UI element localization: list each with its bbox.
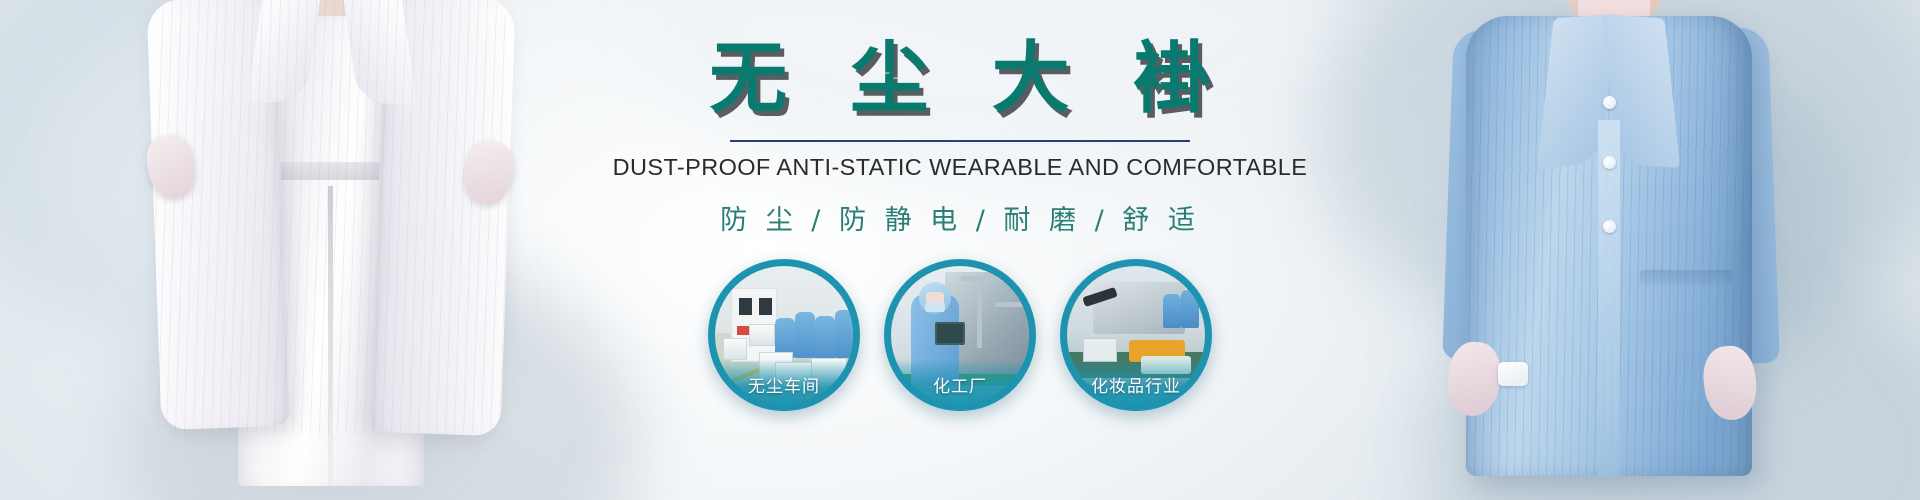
badge-cleanroom-workshop[interactable]: 无尘车间	[708, 259, 860, 411]
badge-cosmetics-industry[interactable]: 化妆品行业	[1060, 259, 1212, 411]
feature-tagline: 防 尘 / 防 静 电 / 耐 磨 / 舒 适	[720, 198, 1200, 237]
industry-badge-group: 无尘车间	[708, 259, 1212, 411]
badge-label: 无尘车间	[708, 372, 860, 397]
page-title: 无 尘 大 褂	[691, 40, 1228, 118]
promo-banner: 无 尘 大 褂 DUST-PROOF ANTI-STATIC WEARABLE …	[0, 0, 1920, 500]
banner-center-content: 无 尘 大 褂 DUST-PROOF ANTI-STATIC WEARABLE …	[480, 0, 1440, 500]
badge-label: 化妆品行业	[1060, 372, 1212, 397]
badge-label: 化工厂	[884, 372, 1036, 397]
blue-lab-coat-model	[1370, 0, 1840, 500]
badge-chemical-plant[interactable]: 化工厂	[884, 259, 1036, 411]
title-divider	[730, 140, 1190, 142]
subtitle-english: DUST-PROOF ANTI-STATIC WEARABLE AND COMF…	[613, 154, 1308, 181]
